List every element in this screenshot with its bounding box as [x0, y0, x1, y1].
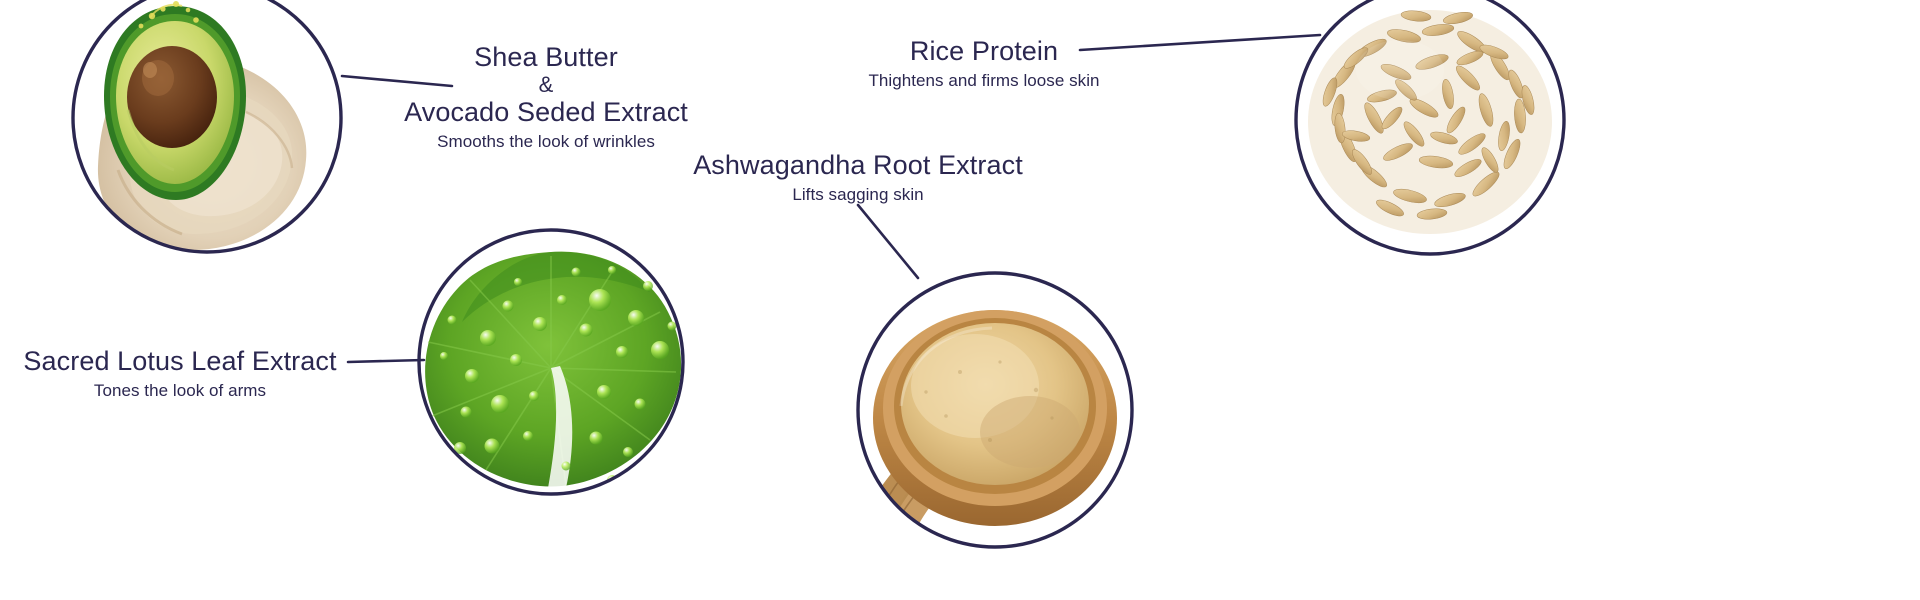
- callout-ashwagandha-title: Ashwagandha Root Extract: [690, 150, 1026, 181]
- ingredient-callout-infographic: Shea Butter & Avocado Seded Extract Smoo…: [0, 0, 1920, 600]
- callout-shea-butter: Shea Butter & Avocado Seded Extract Smoo…: [402, 42, 690, 153]
- callout-shea-subtitle: Smooths the look of wrinkles: [402, 131, 690, 153]
- callout-rice-title: Rice Protein: [862, 36, 1106, 67]
- callout-shea-title-line2: Avocado Seded Extract: [402, 97, 690, 128]
- callout-sacred-lotus: Sacred Lotus Leaf Extract Tones the look…: [20, 346, 340, 402]
- rice-leader-line: [1080, 35, 1320, 50]
- callout-rice-protein: Rice Protein Thightens and firms loose s…: [862, 36, 1106, 92]
- lotus-leader-line: [348, 360, 424, 362]
- ashwagandha-leader-line: [858, 205, 918, 278]
- callout-lotus-subtitle: Tones the look of arms: [20, 380, 340, 402]
- callout-rice-subtitle: Thightens and firms loose skin: [862, 70, 1106, 92]
- callout-ashwagandha-subtitle: Lifts sagging skin: [690, 184, 1026, 206]
- ashwagandha-powder-bowl-photo: [840, 273, 1132, 590]
- callout-shea-ampersand: &: [402, 73, 690, 97]
- callout-lotus-title: Sacred Lotus Leaf Extract: [20, 346, 340, 377]
- callout-ashwagandha: Ashwagandha Root Extract Lifts sagging s…: [690, 150, 1026, 206]
- callout-shea-title-line1: Shea Butter: [402, 42, 690, 73]
